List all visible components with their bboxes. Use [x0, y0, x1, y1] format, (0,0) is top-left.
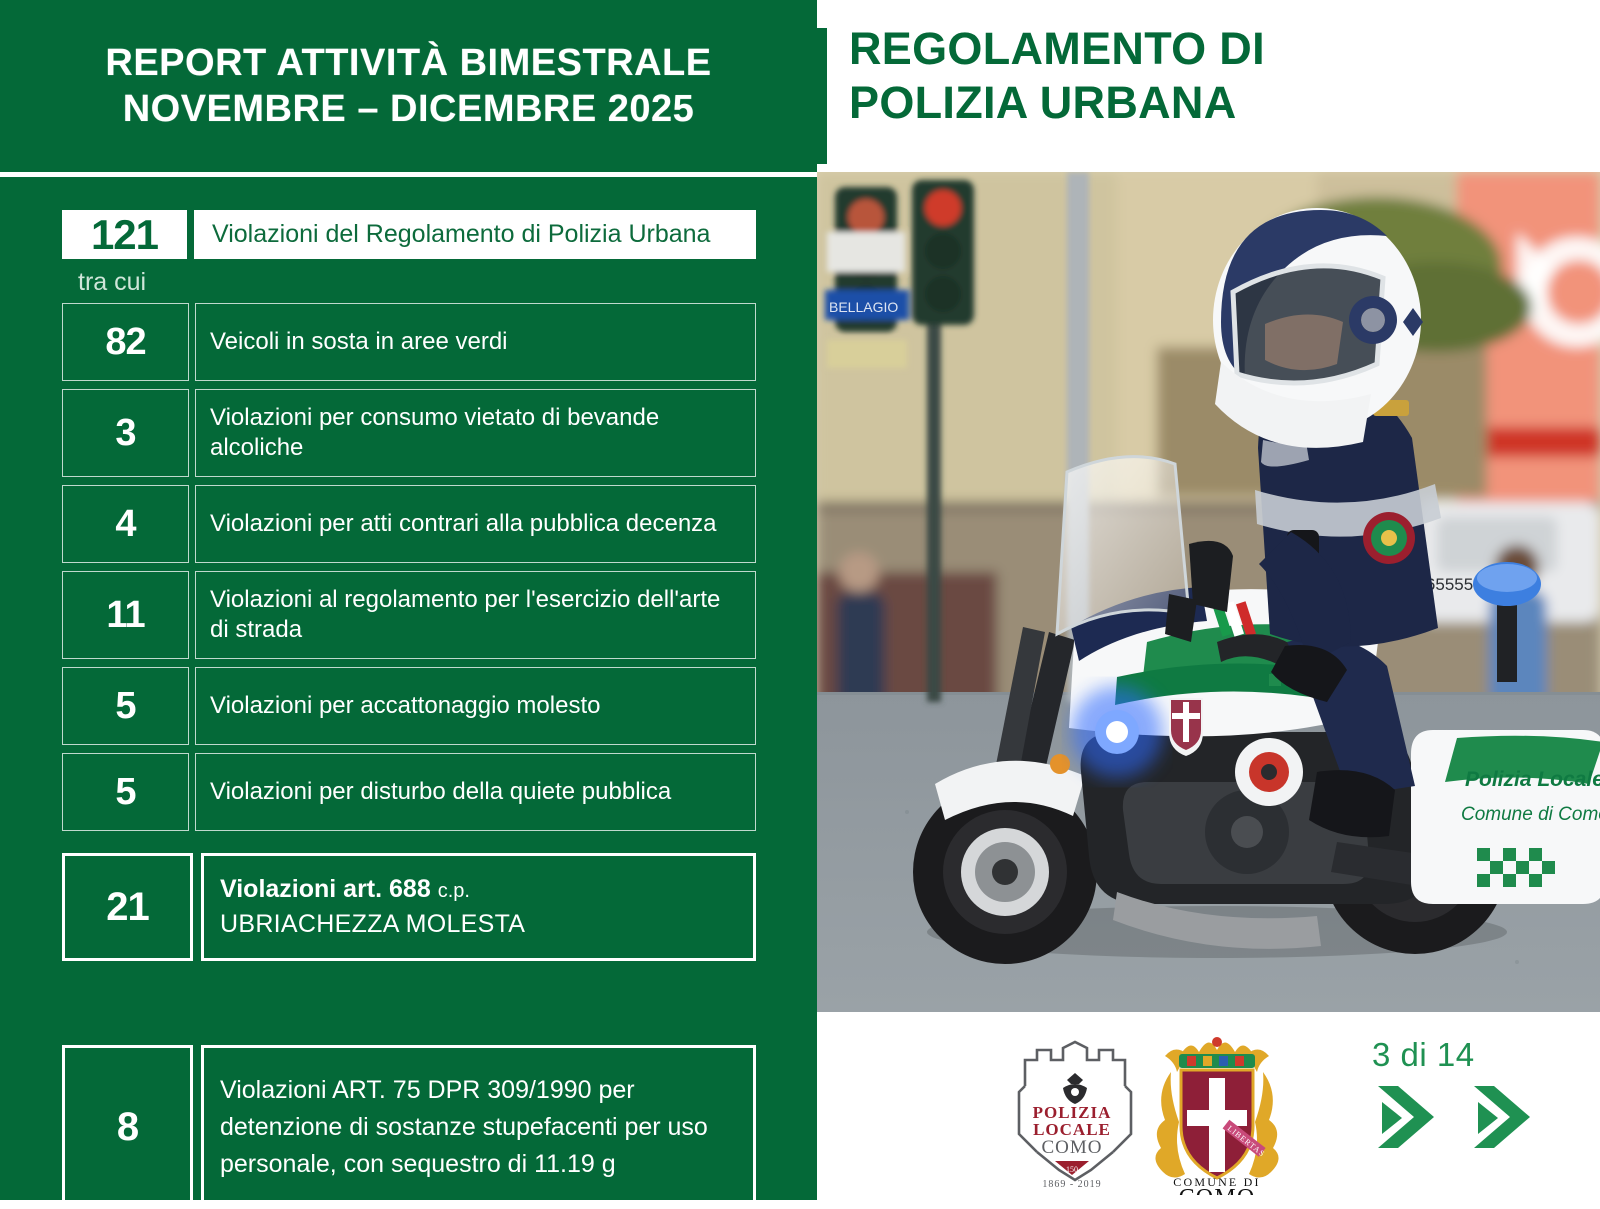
breakdown-label: Violazioni per disturbo della quiete pub…: [195, 753, 756, 831]
stat-row-art688: 21 Violazioni art. 688 c.p. UBRIACHEZZA …: [62, 853, 756, 961]
breakdown-value: 82: [62, 303, 189, 381]
logo-comune-line2: COMO: [1179, 1185, 1256, 1195]
breakdown-value: 5: [62, 753, 189, 831]
logo-polizia-badge: 150: [1066, 1165, 1078, 1174]
list-item: 11 Violazioni al regolamento per l'eserc…: [62, 571, 756, 659]
art688-label-caps: UBRIACHEZZA MOLESTA: [220, 908, 741, 941]
slide-root: REPORT ATTIVITÀ BIMESTRALE NOVEMBRE – DI…: [0, 0, 1600, 1200]
street-sign-label: BELLAGIO: [829, 299, 898, 315]
section-title: REGOLAMENTO DI POLIZIA URBANA: [817, 0, 1600, 172]
stat-primary-label: Violazioni del Regolamento di Polizia Ur…: [194, 210, 756, 259]
list-item: 5 Violazioni per disturbo della quiete p…: [62, 753, 756, 831]
art688-label: Violazioni art. 688 c.p. UBRIACHEZZA MOL…: [201, 853, 756, 961]
pannier-text-line1: Polizia Locale: [1465, 768, 1600, 791]
art688-label-strong: Violazioni art. 688: [220, 875, 431, 903]
list-item: 5 Violazioni per accattonaggio molesto: [62, 667, 756, 745]
report-header: REPORT ATTIVITÀ BIMESTRALE NOVEMBRE – DI…: [0, 0, 817, 172]
dpr309-label: Violazioni ART. 75 DPR 309/1990 per dete…: [201, 1045, 756, 1209]
list-item: 4 Violazioni per atti contrari alla pubb…: [62, 485, 756, 563]
stat-row-dpr309: 8 Violazioni ART. 75 DPR 309/1990 per de…: [62, 1045, 756, 1209]
title-accent-bar: [817, 28, 827, 164]
chevron-double-right-icon[interactable]: [1372, 1082, 1452, 1152]
breakdown-value: 3: [62, 389, 189, 477]
left-stats-panel: REPORT ATTIVITÀ BIMESTRALE NOVEMBRE – DI…: [0, 0, 817, 1200]
breakdown-label: Violazioni al regolamento per l'esercizi…: [195, 571, 756, 659]
next-page-arrows[interactable]: [1372, 1082, 1572, 1152]
stat-row-primary: 121 Violazioni del Regolamento di Polizi…: [62, 210, 756, 259]
breakdown-value: 4: [62, 485, 189, 563]
list-item: 82 Veicoli in sosta in aree verdi: [62, 303, 756, 381]
breakdown-list: 82 Veicoli in sosta in aree verdi 3 Viol…: [62, 303, 756, 831]
breakdown-value: 11: [62, 571, 189, 659]
breakdown-label: Veicoli in sosta in aree verdi: [195, 303, 756, 381]
page-title: REGOLAMENTO DI POLIZIA URBANA: [827, 0, 1600, 172]
breakdown-label: Violazioni per consumo vietato di bevand…: [195, 389, 756, 477]
logo-polizia-line3: COMO: [1041, 1137, 1102, 1158]
photo-police-motorcycle: BELLAGIO: [817, 172, 1600, 1012]
breakdown-caption: tra cui: [78, 267, 817, 297]
breakdown-value: 5: [62, 667, 189, 745]
comune-di-como-logo: LIBERTAS COMUNE DI COMO: [1147, 1020, 1287, 1195]
page-indicator-label: 3 di 14: [1372, 1036, 1572, 1074]
pannier-text-line2: Comune di Como: [1461, 804, 1600, 825]
right-column: REGOLAMENTO DI POLIZIA URBANA: [817, 0, 1600, 1200]
slide-footer: POLIZIA LOCALE COMO 150 1869 - 2019: [817, 1012, 1600, 1200]
report-title-line1: REPORT ATTIVITÀ BIMESTRALE: [105, 40, 711, 86]
page-title-line2: POLIZIA URBANA: [849, 76, 1600, 130]
dpr309-value: 8: [62, 1045, 193, 1209]
art688-value: 21: [62, 853, 193, 961]
polizia-locale-como-logo: POLIZIA LOCALE COMO 150 1869 - 2019: [1007, 1030, 1137, 1190]
breakdown-label: Violazioni per accattonaggio molesto: [195, 667, 756, 745]
stats-rows: 121 Violazioni del Regolamento di Polizi…: [0, 177, 817, 1209]
art688-label-line1: Violazioni art. 688 c.p.: [220, 873, 741, 908]
breakdown-label: Violazioni per atti contrari alla pubbli…: [195, 485, 756, 563]
page-indicator: 3 di 14: [1372, 1036, 1572, 1152]
logo-polizia-years: 1869 - 2019: [1042, 1179, 1101, 1190]
page-title-line1: REGOLAMENTO DI: [849, 22, 1600, 76]
list-item: 3 Violazioni per consumo vietato di beva…: [62, 389, 756, 477]
chevron-double-right-icon[interactable]: [1468, 1082, 1548, 1152]
art688-label-small: c.p.: [438, 880, 470, 902]
report-title-line2: NOVEMBRE – DICEMBRE 2025: [123, 86, 695, 132]
stat-primary-value: 121: [62, 210, 187, 259]
